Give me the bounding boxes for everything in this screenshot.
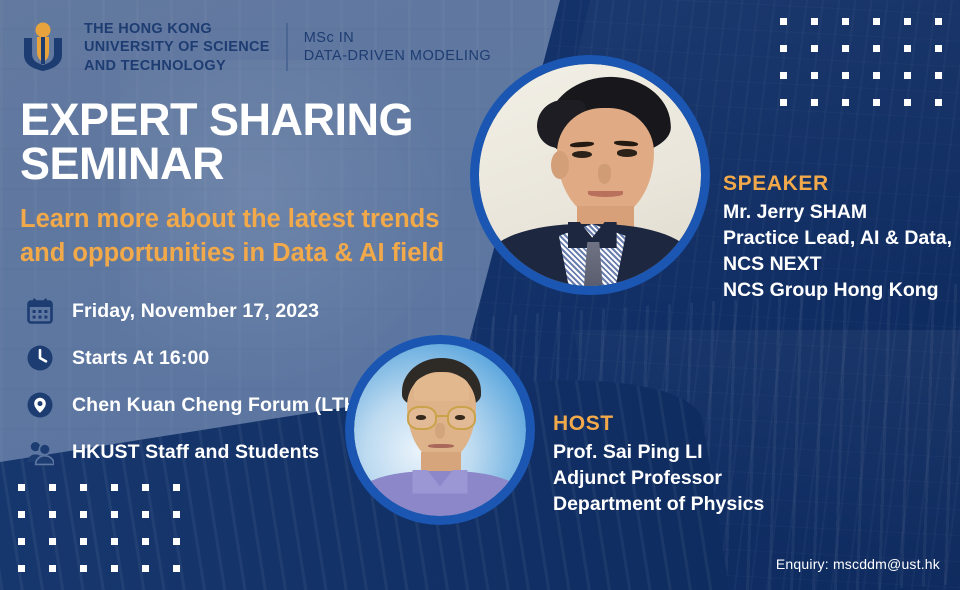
host-label: HOST <box>553 412 764 436</box>
page-title: EXPERT SHARING SEMINAR <box>20 98 413 186</box>
dot-grid-top-right <box>780 18 942 106</box>
host-photo <box>345 335 535 525</box>
event-poster: THE HONG KONG UNIVERSITY OF SCIENCE AND … <box>0 0 960 590</box>
page-subtitle: Learn more about the latest trends and o… <box>20 203 520 271</box>
speaker-photo-ring <box>470 55 710 295</box>
detail-text: Friday, November 17, 2023 <box>72 300 319 323</box>
calendar-icon <box>26 297 54 325</box>
event-details-list: Friday, November 17, 2023 Starts At 16:0… <box>26 297 365 466</box>
detail-row: Starts At 16:00 <box>26 344 365 372</box>
detail-row: Friday, November 17, 2023 <box>26 297 365 325</box>
detail-text: Chen Kuan Cheng Forum (LTH) <box>72 394 365 417</box>
header-divider <box>286 23 288 71</box>
host-details: Prof. Sai Ping LI Adjunct Professor Depa… <box>553 439 764 517</box>
detail-row: Chen Kuan Cheng Forum (LTH) <box>26 391 365 419</box>
speaker-label: SPEAKER <box>723 172 952 196</box>
host-photo-ring <box>345 335 535 525</box>
detail-row: HKUST Staff and Students <box>26 438 365 466</box>
host-info: HOST Prof. Sai Ping LI Adjunct Professor… <box>553 412 764 517</box>
hkust-logo-icon <box>18 21 68 73</box>
location-pin-icon <box>26 391 54 419</box>
speaker-details: Mr. Jerry SHAM Practice Lead, AI & Data,… <box>723 199 952 304</box>
speaker-photo <box>470 55 710 295</box>
poster-header: THE HONG KONG UNIVERSITY OF SCIENCE AND … <box>18 20 491 75</box>
enquiry-text: Enquiry: mscddm@ust.hk <box>776 556 940 572</box>
dot-grid-bottom-left <box>18 484 180 572</box>
detail-text: HKUST Staff and Students <box>72 441 319 464</box>
people-icon <box>26 438 54 466</box>
speaker-info: SPEAKER Mr. Jerry SHAM Practice Lead, AI… <box>723 172 952 304</box>
university-name: THE HONG KONG UNIVERSITY OF SCIENCE AND … <box>84 20 270 75</box>
programme-name: MSc IN DATA-DRIVEN MODELING <box>304 29 492 67</box>
clock-icon <box>26 344 54 372</box>
detail-text: Starts At 16:00 <box>72 347 209 370</box>
